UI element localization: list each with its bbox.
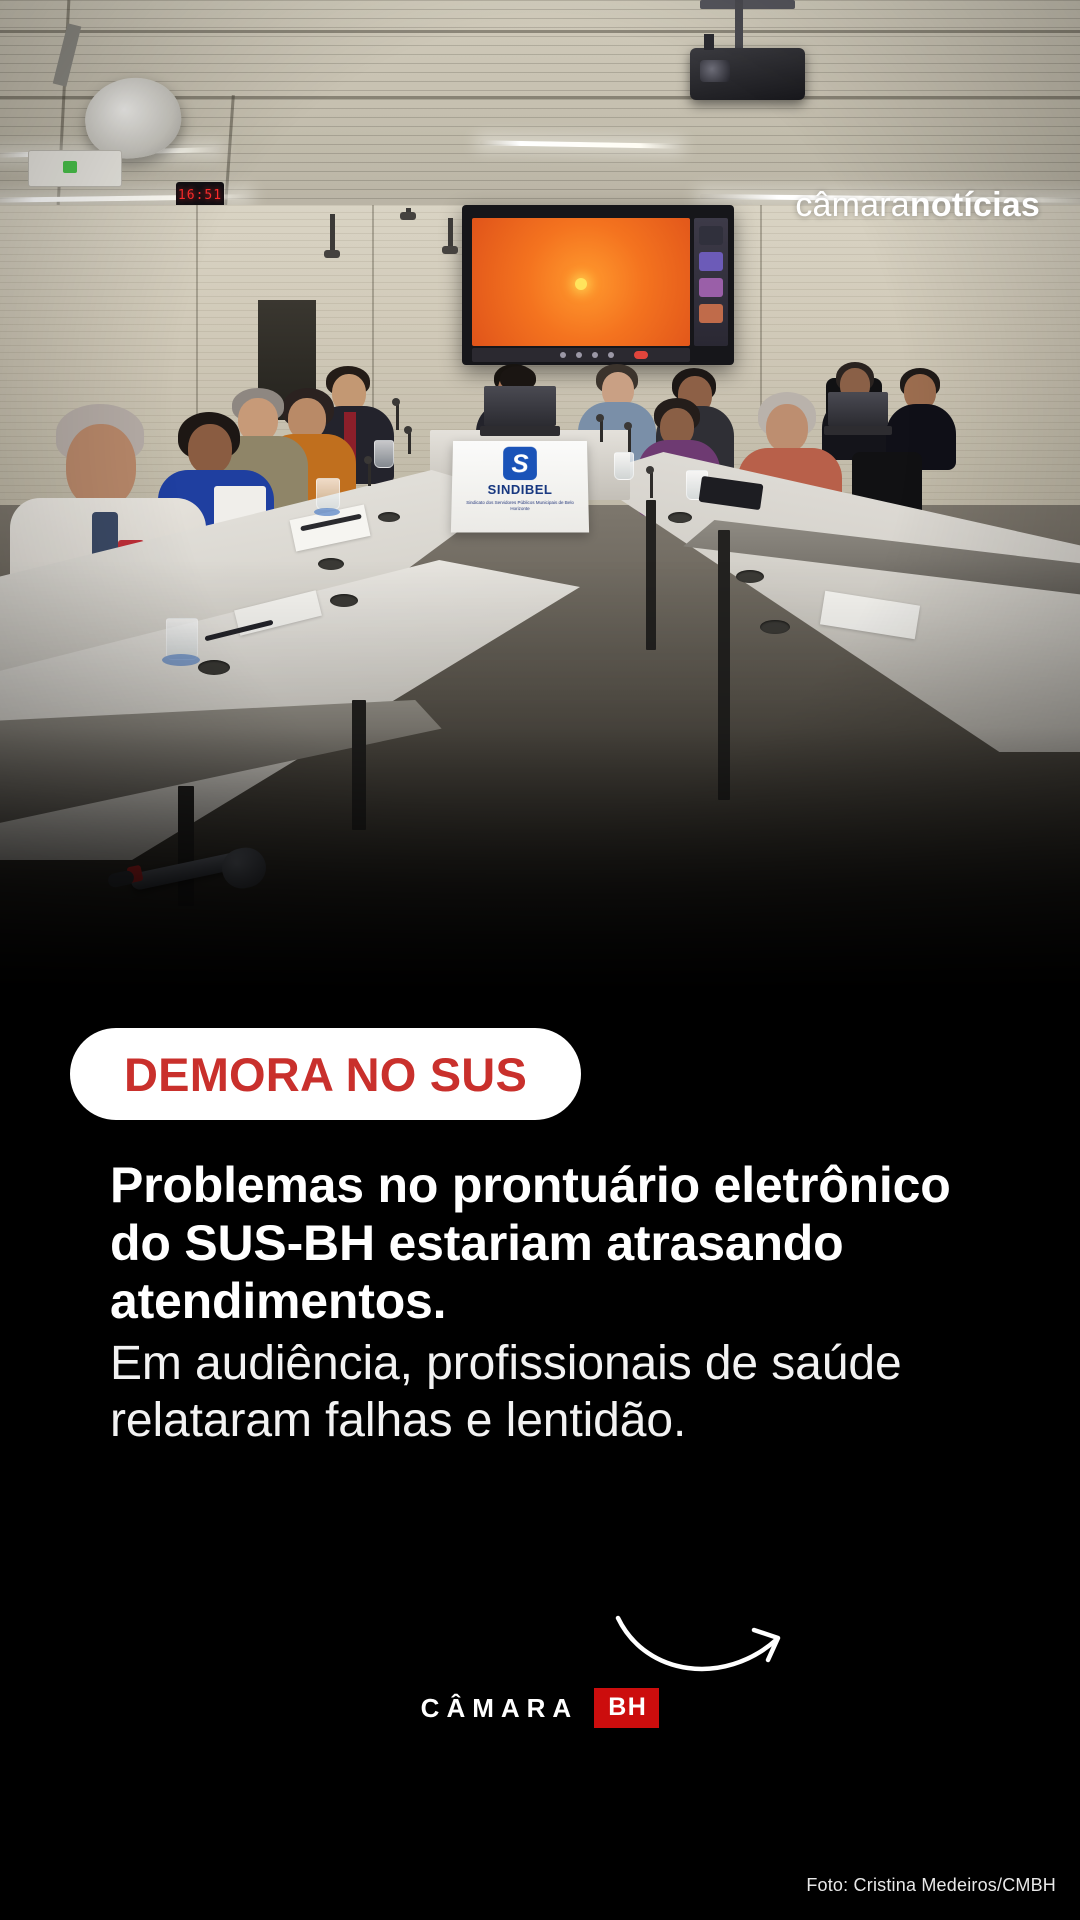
photo-scene: 16:51: [0, 0, 1080, 1000]
desk-microphone-head: [646, 466, 654, 474]
video-thumbnail: [699, 252, 723, 271]
photo-credit: Foto: Cristina Medeiros/CMBH: [806, 1875, 1056, 1896]
projector-mount: [700, 0, 795, 9]
wall-seam: [196, 205, 198, 435]
projector-icon: [690, 48, 805, 100]
page-subtitle: Em audiência, profissionais de saúde rel…: [110, 1336, 1010, 1449]
projector-arm: [735, 0, 743, 52]
desk-microphone: [408, 432, 411, 454]
page-title: Problemas no prontuário eletrônico do SU…: [110, 1156, 1010, 1330]
desk-microphone: [368, 462, 371, 486]
toolbar-dot: [608, 352, 614, 358]
footer-logo-mark: BH: [594, 1688, 659, 1728]
table-grommet: [318, 558, 344, 570]
camara-noticias-watermark: câmaranotícias: [0, 188, 1040, 222]
video-thumbnail: [699, 304, 723, 323]
desk-microphone: [650, 472, 653, 498]
toolbar-dot: [576, 352, 582, 358]
hanging-microphone-head: [324, 250, 340, 258]
wall-seam: [760, 205, 762, 415]
hanging-microphone: [448, 218, 453, 248]
copy-block: Problemas no prontuário eletrônico do SU…: [110, 1156, 1010, 1449]
desk-microphone: [628, 428, 631, 452]
desk-microphone-head: [596, 414, 604, 422]
table-grommet: [330, 594, 358, 607]
glass-coaster: [162, 654, 200, 666]
wall-seam: [372, 205, 374, 435]
footer-logo: CÂMARA BH: [0, 1688, 1080, 1728]
table-grommet: [378, 512, 400, 522]
screen-highlight: [575, 278, 587, 290]
watermark-bold-text: notícias: [910, 186, 1040, 224]
desk-microphone-head: [364, 456, 372, 464]
video-thumbnail: [699, 278, 723, 297]
status-badge: DEMORA NO SUS: [70, 1028, 581, 1120]
sindibel-name: SINDIBEL: [488, 482, 553, 497]
table-leg: [718, 530, 730, 800]
status-led: [63, 161, 77, 173]
table-grommet: [668, 512, 692, 523]
sindibel-subtitle: Sindicato dos Servidores Públicos Munici…: [464, 500, 575, 512]
desk-microphone-head: [404, 426, 412, 434]
desk-microphone: [600, 420, 603, 442]
desk-microphone-head: [624, 422, 632, 430]
ceiling-seam: [0, 30, 1080, 33]
record-indicator: [634, 351, 648, 359]
table-leg: [646, 500, 656, 650]
sindibel-logo-mark: S: [503, 447, 537, 480]
laptop-base: [824, 426, 892, 435]
table-grommet: [736, 570, 764, 583]
laptop-screen: [828, 392, 888, 426]
desk-microphone-head: [392, 398, 400, 406]
hanging-microphone-head: [442, 246, 458, 254]
table-grommet: [198, 660, 230, 675]
footer-logo-name: CÂMARA: [421, 1695, 579, 1721]
content-panel: [0, 1000, 1080, 1920]
toolbar-dot: [560, 352, 566, 358]
sindibel-banner: S SINDIBEL Sindicato dos Servidores Públ…: [451, 441, 589, 533]
table-leg: [352, 700, 366, 830]
news-card: 16:51: [0, 0, 1080, 1920]
watermark-light-text: câmara: [795, 186, 910, 224]
desk-microphone: [396, 404, 399, 430]
water-glass: [614, 452, 634, 480]
water-glass: [316, 478, 340, 510]
laptop-base: [480, 426, 560, 436]
wall-control-box: [28, 150, 122, 187]
video-thumbnail: [699, 226, 723, 245]
swipe-arrow-icon[interactable]: [612, 1610, 792, 1690]
laptop-screen: [484, 386, 556, 426]
table-grommet: [760, 620, 790, 634]
badge-label: DEMORA NO SUS: [124, 1051, 527, 1098]
table-leg: [178, 786, 194, 906]
toolbar-dot: [592, 352, 598, 358]
water-glass: [374, 440, 394, 468]
glass-coaster: [314, 508, 340, 516]
